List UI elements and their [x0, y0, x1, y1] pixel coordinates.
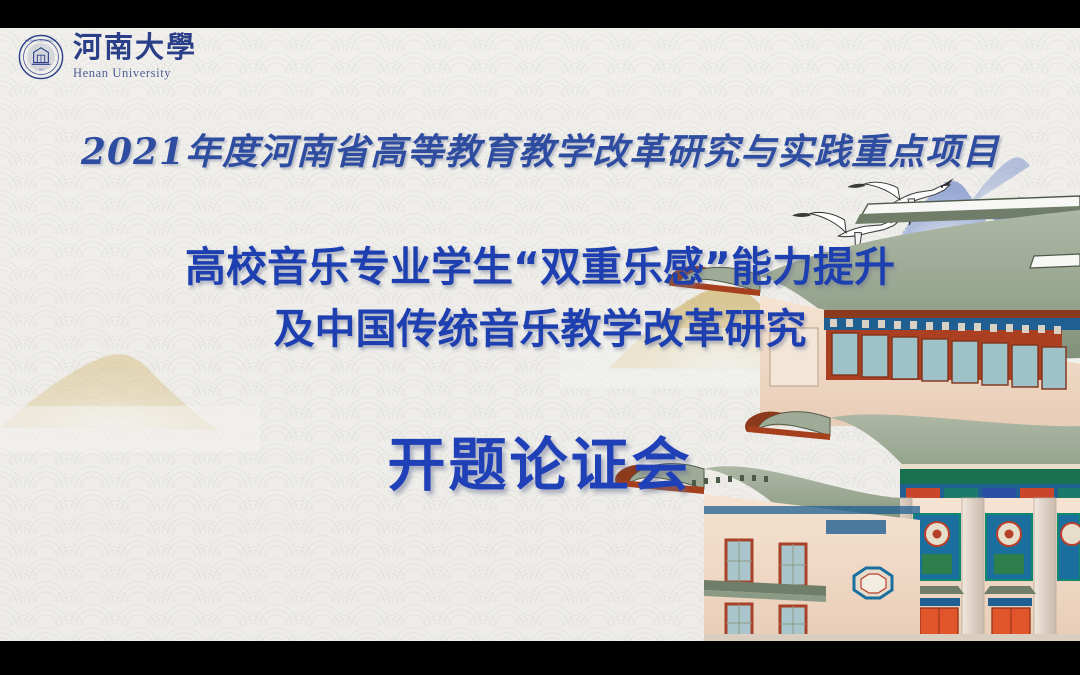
university-logo: HENAN UNIVERSITY 1912 河南大學 Henan Univers… [18, 34, 197, 80]
svg-text:1912: 1912 [38, 68, 44, 71]
henan-university-seal-icon: HENAN UNIVERSITY 1912 [18, 34, 64, 80]
background-vignette [0, 28, 1080, 641]
slide-frame: HENAN UNIVERSITY 1912 河南大學 Henan Univers… [0, 0, 1080, 675]
slide-canvas: HENAN UNIVERSITY 1912 河南大學 Henan Univers… [0, 28, 1080, 641]
letterbox-bar-top [0, 0, 1080, 28]
logo-name-en: Henan University [73, 67, 197, 80]
svg-text:HENAN UNIVERSITY: HENAN UNIVERSITY [25, 38, 57, 42]
letterbox-bar-bottom [0, 641, 1080, 675]
logo-name-cn: 河南大學 [73, 34, 197, 63]
logo-text-block: 河南大學 Henan University [73, 34, 197, 80]
